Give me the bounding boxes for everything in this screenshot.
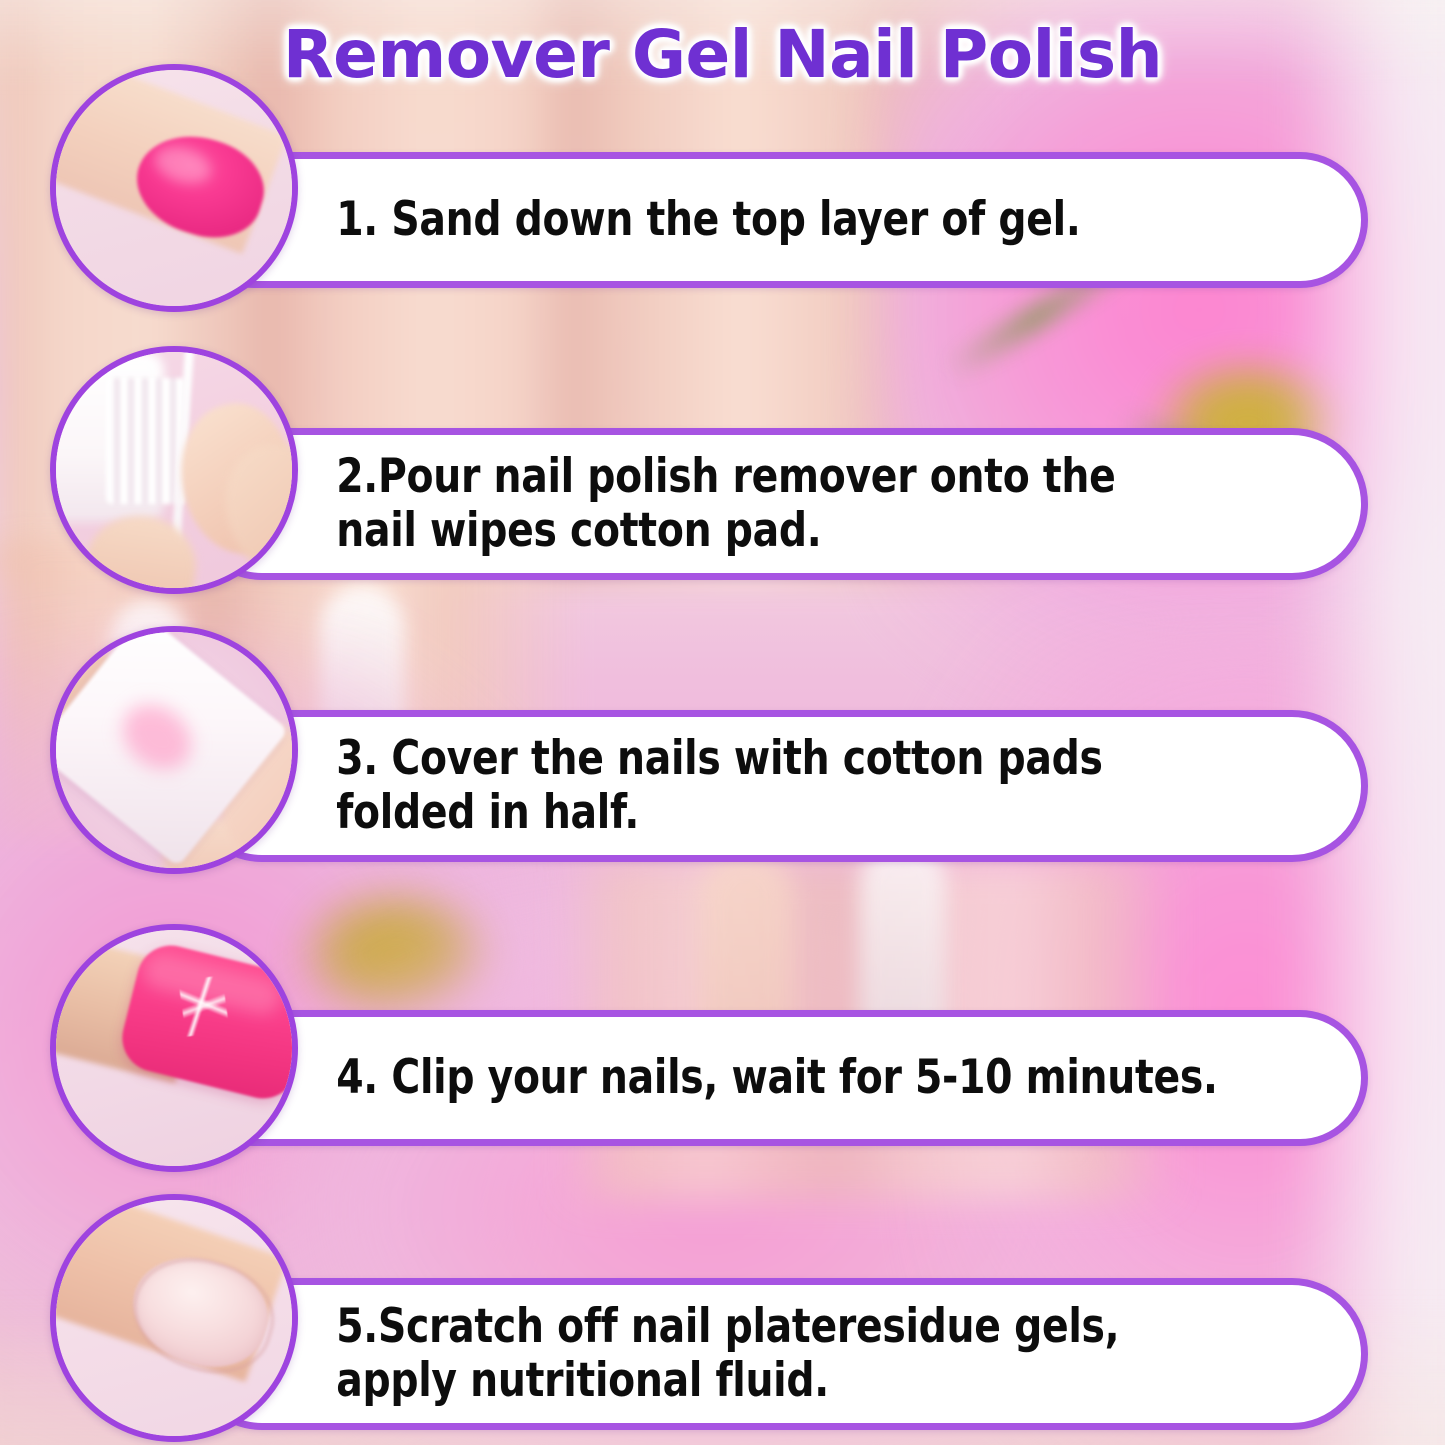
- step-4-photo: [50, 924, 298, 1172]
- step-5-text: 5.Scratch off nail plateresidue gels, ap…: [193, 1300, 1151, 1407]
- step-2-text: 2.Pour nail polish remover onto the nail…: [193, 450, 1147, 557]
- step-3-photo-content: [50, 626, 298, 874]
- step-3-pill: 3. Cover the nails with cotton pads fold…: [186, 710, 1368, 862]
- step-1-photo-content: [50, 64, 298, 312]
- step-2-photo-content: [50, 346, 298, 594]
- infographic-root: Remover Gel Nail Polish 1. Sand down the…: [0, 0, 1445, 1445]
- step-5-photo: [50, 1194, 298, 1442]
- step-1-pill: 1. Sand down the top layer of gel.: [186, 152, 1368, 288]
- step-3-text: 3. Cover the nails with cotton pads fold…: [193, 732, 1134, 839]
- step-2-pill: 2.Pour nail polish remover onto the nail…: [186, 428, 1368, 580]
- step-4-pill: 4. Clip your nails, wait for 5-10 minute…: [186, 1010, 1368, 1146]
- step-4-photo-content: [50, 924, 298, 1172]
- step-5-photo-content: [50, 1194, 298, 1442]
- step-1-text: 1. Sand down the top layer of gel.: [193, 193, 1112, 247]
- step-4-text: 4. Clip your nails, wait for 5-10 minute…: [193, 1051, 1249, 1105]
- step-5-pill: 5.Scratch off nail plateresidue gels, ap…: [186, 1278, 1368, 1430]
- step-2-photo: [50, 346, 298, 594]
- step-1-photo: [50, 64, 298, 312]
- step-3-photo: [50, 626, 298, 874]
